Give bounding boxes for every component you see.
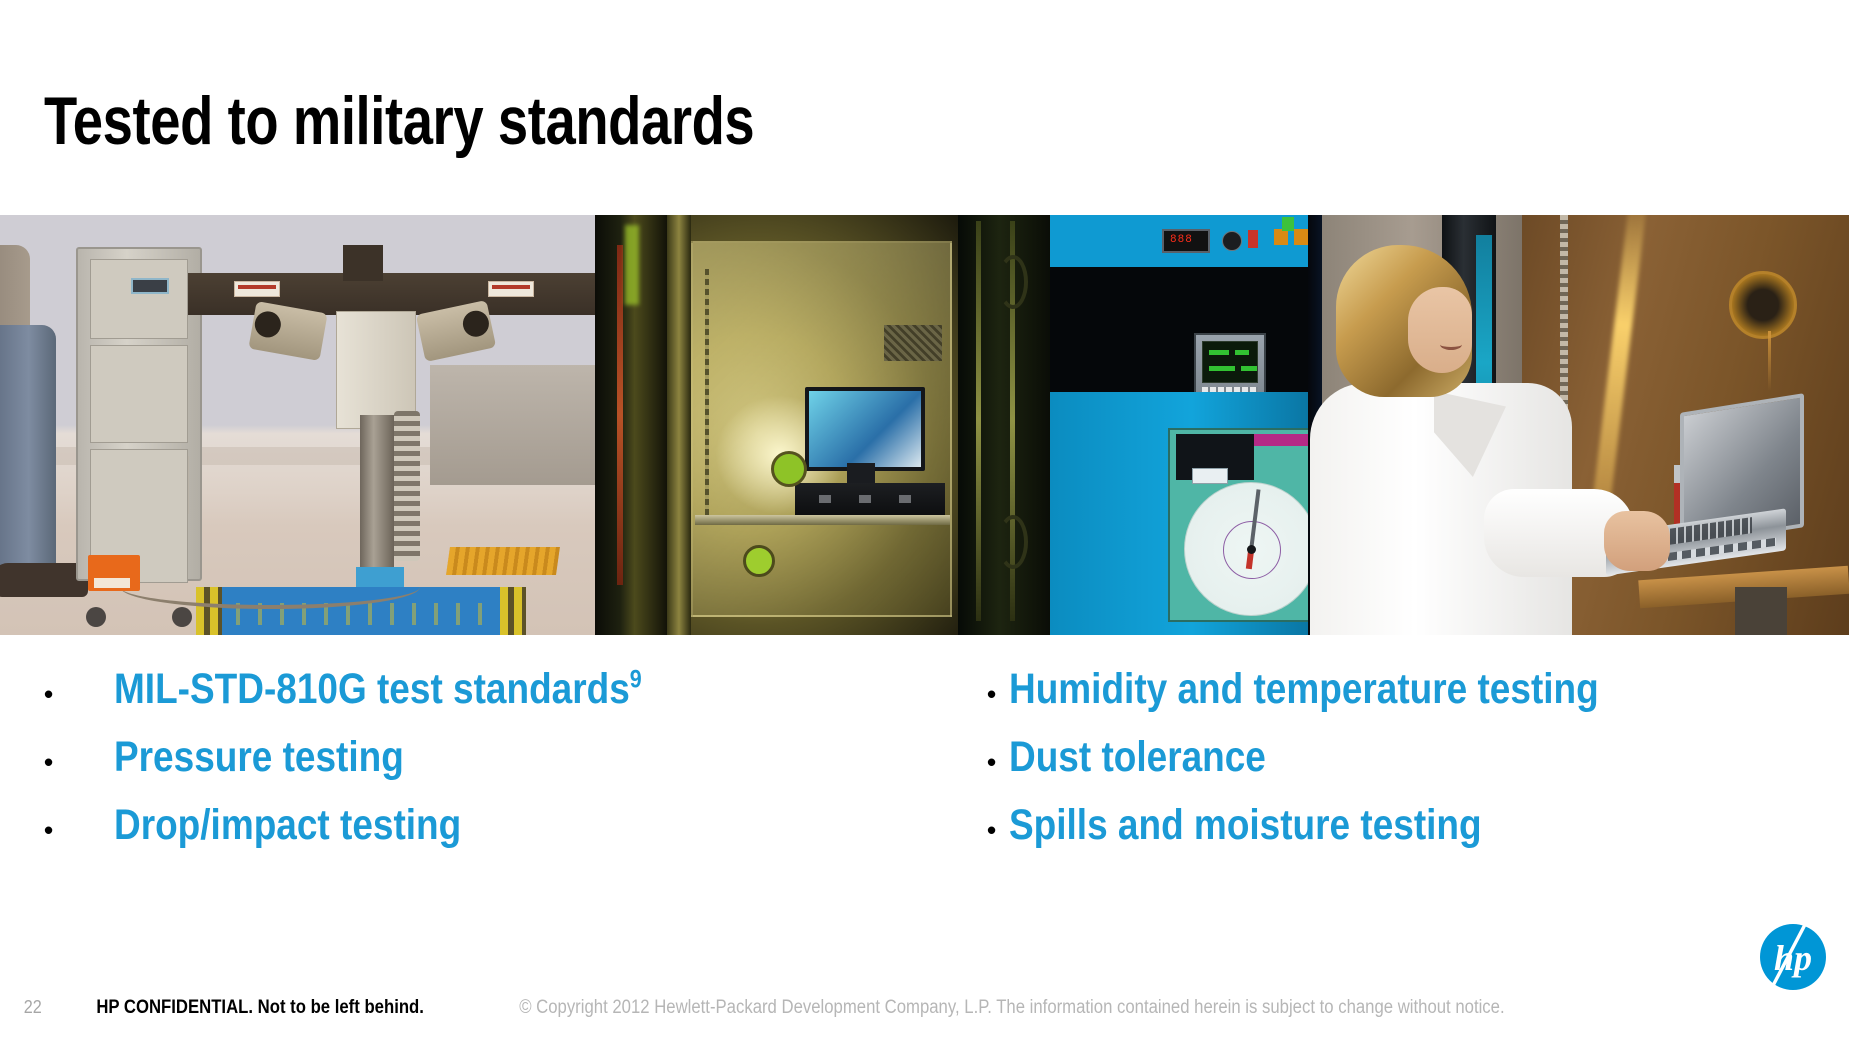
bullet-text: Dust tolerance — [1009, 723, 1266, 791]
hp-logo: hp — [1759, 923, 1827, 991]
beam-label-right — [488, 281, 534, 297]
slide-footer: 22 HP CONFIDENTIAL. Not to be left behin… — [0, 997, 1849, 1023]
bullet-marker-icon: • — [987, 817, 1009, 843]
page-number: 22 — [2, 997, 42, 1018]
bullet-text: MIL-STD-810G test standards9 — [114, 655, 642, 723]
amber-indicator-1 — [1274, 229, 1288, 245]
bullet-column-right: • Humidity and temperature testing • Dus… — [915, 655, 1849, 859]
monitor-under-test — [805, 387, 925, 471]
circular-chart-recorder — [1168, 428, 1308, 622]
copyright-notice: © Copyright 2012 Hewlett-Packard Develop… — [519, 997, 1504, 1019]
chamber-door-seal — [617, 245, 623, 585]
chamber-rail — [705, 269, 709, 519]
wall-vent-disc — [1729, 271, 1797, 339]
bullet-marker-icon: • — [44, 749, 114, 775]
photo-strip: 888 — [0, 215, 1849, 635]
list-item: • Drop/impact testing — [44, 791, 915, 859]
desktop-pc-under-test — [795, 483, 945, 517]
bullet-lists: • MIL-STD-810G test standards9 • Pressur… — [0, 655, 1849, 859]
chamber-door-reflection — [625, 225, 639, 305]
drop-head-block — [343, 245, 383, 281]
list-item: • Humidity and temperature testing — [987, 655, 1849, 723]
chamber-dark-door — [958, 215, 1050, 635]
page-title: Tested to military standards — [44, 79, 754, 163]
floor-cable — [120, 565, 420, 609]
list-item: • MIL-STD-810G test standards9 — [44, 655, 915, 723]
cabinet-led-display — [131, 278, 169, 294]
monitor-stand — [847, 463, 875, 485]
footnote-superscript: 9 — [630, 666, 642, 694]
chart-hub — [1247, 545, 1256, 554]
lab-bench — [430, 365, 595, 485]
water-drip — [1768, 331, 1771, 391]
hp-logo-icon: hp — [1759, 923, 1827, 991]
control-panel-top: 888 — [1050, 215, 1308, 267]
recorder-brand-bar — [1254, 434, 1308, 446]
confidentiality-notice: HP CONFIDENTIAL. Not to be left behind. — [96, 997, 424, 1019]
photo-technician-with-laptop — [1308, 215, 1849, 635]
beam-label-left — [234, 281, 280, 297]
bullet-column-left: • MIL-STD-810G test standards9 • Pressur… — [0, 655, 915, 859]
hp-logo-text: hp — [1774, 938, 1812, 978]
recorder-chart-disc — [1184, 482, 1308, 616]
chamber-frame — [667, 215, 691, 635]
chamber-shelf — [695, 515, 950, 525]
list-item: • Pressure testing — [44, 723, 915, 791]
cabinet-caster-left — [86, 607, 106, 627]
mat-hazard-stripe-right — [500, 587, 526, 635]
drop-tower-spring — [394, 411, 420, 561]
drop-test-crossbeam — [188, 273, 595, 315]
technician-shoe — [0, 563, 88, 597]
orange-equipment-box — [88, 555, 140, 591]
photo-thermal-chamber — [595, 215, 958, 635]
chamber-sensor-lower — [743, 545, 775, 577]
door-handle-upper — [998, 255, 1028, 309]
cabinet-caster-right — [172, 607, 192, 627]
recorder-label — [1192, 468, 1228, 484]
power-indicator — [1282, 217, 1294, 231]
bullet-marker-icon: • — [44, 681, 114, 707]
door-handle-lower — [998, 515, 1028, 569]
technician-smile — [1440, 339, 1462, 350]
yellow-impact-pad — [446, 547, 560, 575]
bullet-text: Drop/impact testing — [114, 791, 461, 859]
cabinet-upper-panel — [90, 259, 188, 339]
bullet-marker-icon: • — [44, 817, 114, 843]
temperature-led-display: 888 — [1162, 229, 1210, 253]
panel-knob — [1222, 231, 1242, 251]
door-seam-outer — [976, 221, 981, 621]
bullet-text: Spills and moisture testing — [1009, 791, 1482, 859]
chamber-sensor-upper — [771, 451, 807, 487]
bullet-text: Pressure testing — [114, 723, 404, 791]
photo-drop-impact-test-lab — [0, 215, 595, 635]
bullet-marker-icon: • — [987, 681, 1009, 707]
technician-hand — [1604, 511, 1670, 571]
drop-tower-column — [360, 415, 394, 575]
cabinet-mid-panel — [90, 345, 188, 443]
list-item: • Spills and moisture testing — [987, 791, 1849, 859]
list-item: • Dust tolerance — [987, 723, 1849, 791]
chamber-door — [595, 215, 667, 635]
emergency-switch — [1248, 230, 1258, 248]
controller-display — [1202, 341, 1258, 383]
bullet-text: Humidity and temperature testing — [1009, 655, 1599, 723]
technician-face — [1408, 287, 1472, 373]
instrument-cabinet — [76, 247, 202, 581]
control-panel-body — [1050, 392, 1308, 635]
control-panel-recess — [1050, 267, 1308, 392]
chamber-vent-grille — [884, 325, 942, 361]
amber-indicator-2 — [1294, 229, 1308, 245]
bullet-marker-icon: • — [987, 749, 1009, 775]
photo-chamber-control-panel: 888 — [958, 215, 1308, 635]
work-bench-leg — [1735, 587, 1787, 635]
technician-leg-front — [0, 325, 56, 585]
